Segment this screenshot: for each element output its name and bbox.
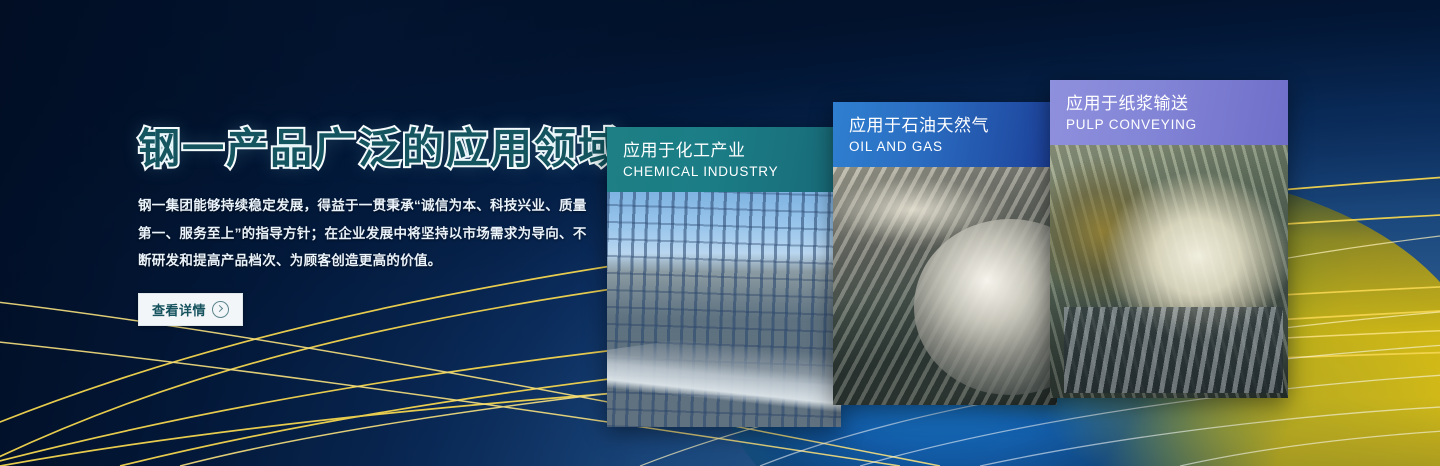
card-pulp-header: 应用于纸浆输送 PULP CONVEYING [1050, 80, 1288, 145]
page-title: 钢一产品广泛的应用领域 [138, 128, 598, 170]
banner-copy-block: 钢一产品广泛的应用领域 钢一集团能够持续稳定发展，得益于一贯秉承“诚信为本、科技… [138, 128, 598, 326]
chevron-right-circle-icon [212, 301, 229, 318]
card-pulp-conveying[interactable]: 应用于纸浆输送 PULP CONVEYING [1050, 80, 1288, 398]
card-oil-title-en: OIL AND GAS [849, 138, 1041, 156]
card-oil-image [833, 167, 1057, 405]
card-chemical-title-zh: 应用于化工产业 [623, 140, 825, 161]
card-oil-header: 应用于石油天然气 OIL AND GAS [833, 102, 1057, 167]
card-chemical-industry[interactable]: 应用于化工产业 CHEMICAL INDUSTRY [607, 127, 841, 427]
card-pulp-title-zh: 应用于纸浆输送 [1066, 93, 1272, 114]
card-pulp-image [1050, 145, 1288, 398]
hero-banner: 钢一产品广泛的应用领域 钢一集团能够持续稳定发展，得益于一贯秉承“诚信为本、科技… [0, 0, 1440, 466]
card-oil-and-gas[interactable]: 应用于石油天然气 OIL AND GAS [833, 102, 1057, 405]
card-chemical-image [607, 192, 841, 427]
card-chemical-title-en: CHEMICAL INDUSTRY [623, 163, 825, 181]
card-chemical-header: 应用于化工产业 CHEMICAL INDUSTRY [607, 127, 841, 192]
banner-description: 钢一集团能够持续稳定发展，得益于一贯秉承“诚信为本、科技兴业、质量第一、服务至上… [138, 192, 598, 275]
view-details-button[interactable]: 查看详情 [138, 293, 243, 326]
card-oil-title-zh: 应用于石油天然气 [849, 115, 1041, 136]
card-pulp-title-en: PULP CONVEYING [1066, 116, 1272, 134]
view-details-label: 查看详情 [152, 300, 206, 319]
